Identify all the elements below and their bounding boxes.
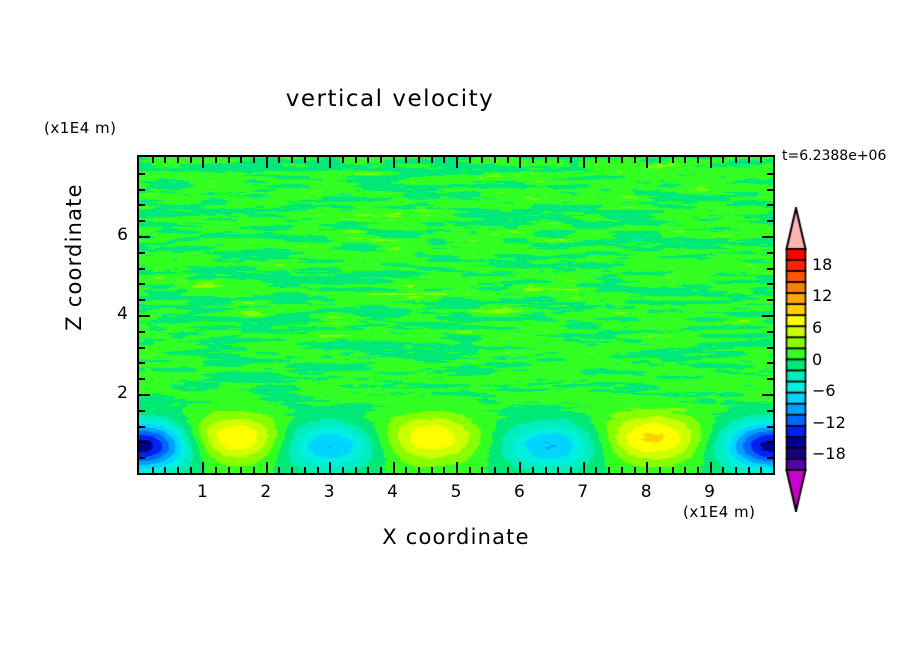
z-axis-tick [767, 299, 773, 301]
z-axis-tick [139, 426, 145, 428]
x-axis-tick [672, 467, 674, 473]
x-axis-tick [570, 467, 572, 473]
x-axis-tick [557, 157, 559, 163]
x-axis-tick [228, 157, 230, 163]
z-axis-tick [139, 394, 150, 396]
z-axis-tick [139, 441, 145, 443]
x-axis-tick [608, 467, 610, 473]
z-axis-tick [139, 283, 145, 285]
x-axis-tick [646, 462, 648, 473]
x-axis-tick [722, 467, 724, 473]
colorbar[interactable] [785, 207, 807, 512]
x-axis-tick [748, 467, 750, 473]
x-axis-tick [760, 157, 762, 163]
page-title: vertical velocity [0, 86, 780, 112]
x-axis-tick [266, 157, 268, 168]
z-axis-tick [139, 410, 145, 412]
x-axis-tick [278, 157, 280, 163]
x-axis-tick [190, 467, 192, 473]
x-axis-tick [431, 467, 433, 473]
colorbar-tick-label: 12 [812, 286, 832, 305]
x-axis-tick [266, 462, 268, 473]
z-axis-tick [139, 331, 145, 333]
z-axis-tick [767, 426, 773, 428]
colorbar-tick-label: 0 [812, 350, 822, 369]
x-axis-tick [481, 157, 483, 163]
colorbar-tick-label: −12 [812, 413, 846, 432]
z-axis-tick [767, 331, 773, 333]
x-axis-tick [735, 467, 737, 473]
x-axis-tick [469, 157, 471, 163]
x-axis-tick [418, 157, 420, 163]
x-axis-tick [595, 157, 597, 163]
z-axis-tick [139, 347, 145, 349]
z-axis-tick [767, 189, 773, 191]
colorbar-tick-label: −6 [812, 381, 836, 400]
x-axis-tick [240, 467, 242, 473]
x-axis-tick [735, 157, 737, 163]
x-axis-tick-label: 4 [378, 482, 408, 502]
time-annotation: t=6.2388e+06 [782, 148, 886, 164]
x-axis-tick [710, 157, 712, 168]
x-axis-tick-label: 5 [441, 482, 471, 502]
x-axis-tick [342, 467, 344, 473]
z-axis-tick-label: 2 [104, 383, 128, 403]
x-axis-tick [608, 157, 610, 163]
y-axis-title: Z coordinate [62, 177, 86, 337]
x-axis-tick [443, 157, 445, 163]
z-axis-tick-label: 4 [104, 304, 128, 324]
x-axis-tick [456, 462, 458, 473]
x-axis-tick [545, 467, 547, 473]
x-axis-tick [355, 467, 357, 473]
x-axis-tick [697, 157, 699, 163]
x-axis-tick [240, 157, 242, 163]
z-axis-tick [139, 252, 145, 254]
colorbar-tick-label: 6 [812, 318, 822, 337]
x-axis-tick [342, 157, 344, 163]
x-axis-tick [621, 157, 623, 163]
z-axis-tick [767, 441, 773, 443]
z-axis-tick [139, 457, 145, 459]
x-axis-tick-label: 3 [314, 482, 344, 502]
x-axis-tick [152, 467, 154, 473]
x-axis-tick [431, 157, 433, 163]
x-axis-tick [215, 157, 217, 163]
x-axis-tick [443, 467, 445, 473]
x-axis-tick [329, 462, 331, 473]
x-axis-tick [532, 157, 534, 163]
x-axis-tick [583, 157, 585, 168]
x-axis-tick [278, 467, 280, 473]
colorbar-tick-label: −18 [812, 444, 846, 463]
z-axis-tick [139, 315, 150, 317]
z-axis-tick [767, 220, 773, 222]
z-axis-tick [139, 204, 145, 206]
x-axis-tick [215, 467, 217, 473]
x-axis-tick [253, 467, 255, 473]
z-axis-tick [767, 252, 773, 254]
z-axis-tick [139, 220, 145, 222]
x-axis-tick [634, 467, 636, 473]
x-axis-tick [329, 157, 331, 168]
z-axis-tick [139, 362, 145, 364]
x-axis-tick [164, 157, 166, 163]
x-axis-tick [760, 467, 762, 473]
x-axis-tick [304, 157, 306, 163]
x-axis-tick [507, 157, 509, 163]
x-axis-tick [456, 157, 458, 168]
x-axis-tick-label: 8 [631, 482, 661, 502]
x-axis-tick-label: 1 [187, 482, 217, 502]
x-axis-tick-label: 2 [251, 482, 281, 502]
x-axis-tick [380, 157, 382, 163]
x-axis-tick [583, 462, 585, 473]
colorbar-tick-label: 18 [812, 255, 832, 274]
x-axis-tick [291, 467, 293, 473]
z-axis-tick [139, 189, 145, 191]
z-axis-tick [762, 394, 773, 396]
z-axis-tick [767, 268, 773, 270]
x-axis-tick [659, 467, 661, 473]
x-axis-tick [190, 157, 192, 163]
x-axis-tick [507, 467, 509, 473]
x-axis-tick [722, 157, 724, 163]
x-axis-tick [570, 157, 572, 163]
x-axis-tick [164, 467, 166, 473]
x-axis-tick [748, 157, 750, 163]
x-axis-tick [367, 467, 369, 473]
z-axis-tick [767, 173, 773, 175]
z-axis-tick-label: 6 [104, 225, 128, 245]
x-axis-tick-label: 6 [504, 482, 534, 502]
x-axis-tick [317, 467, 319, 473]
x-axis-tick [621, 467, 623, 473]
z-axis-tick [139, 268, 145, 270]
x-axis-tick [367, 157, 369, 163]
x-axis-tick [684, 467, 686, 473]
z-axis-tick [139, 236, 150, 238]
contour-plot-area[interactable] [137, 155, 775, 475]
x-axis-tick [317, 157, 319, 163]
x-axis-tick-label: 9 [695, 482, 725, 502]
x-axis-tick [684, 157, 686, 163]
z-axis-tick [139, 173, 145, 175]
velocity-field-canvas [139, 157, 773, 473]
z-axis-tick [139, 299, 145, 301]
z-axis-tick [767, 347, 773, 349]
x-axis-tick [405, 467, 407, 473]
z-axis-tick [767, 378, 773, 380]
x-axis-tick [545, 157, 547, 163]
x-axis-tick [710, 462, 712, 473]
x-axis-tick [355, 157, 357, 163]
x-axis-tick [557, 467, 559, 473]
colorbar-canvas [785, 207, 807, 512]
x-axis-tick [418, 467, 420, 473]
x-axis-multiplier-label: (x1E4 m) [683, 503, 756, 521]
x-axis-tick [202, 157, 204, 168]
z-axis-tick [767, 457, 773, 459]
x-axis-tick [634, 157, 636, 163]
z-axis-tick [767, 283, 773, 285]
z-axis-tick [762, 236, 773, 238]
x-axis-tick [494, 157, 496, 163]
x-axis-tick [152, 157, 154, 163]
x-axis-tick [519, 462, 521, 473]
x-axis-tick [494, 467, 496, 473]
x-axis-tick [697, 467, 699, 473]
x-axis-tick [253, 157, 255, 163]
x-axis-tick [304, 467, 306, 473]
x-axis-tick [672, 157, 674, 163]
z-axis-tick [767, 204, 773, 206]
z-axis-tick [139, 378, 145, 380]
x-axis-tick [469, 467, 471, 473]
x-axis-tick [646, 157, 648, 168]
x-axis-tick [393, 157, 395, 168]
x-axis-tick [177, 467, 179, 473]
x-axis-tick [177, 157, 179, 163]
x-axis-tick [532, 467, 534, 473]
x-axis-tick [519, 157, 521, 168]
z-axis-tick [767, 362, 773, 364]
x-axis-tick [380, 467, 382, 473]
y-axis-multiplier-label: (x1E4 m) [44, 119, 117, 137]
x-axis-title: X coordinate [137, 525, 775, 549]
x-axis-tick [481, 467, 483, 473]
x-axis-tick [393, 462, 395, 473]
x-axis-tick [405, 157, 407, 163]
x-axis-tick [228, 467, 230, 473]
x-axis-tick [202, 462, 204, 473]
x-axis-tick [659, 157, 661, 163]
x-axis-tick-label: 7 [568, 482, 598, 502]
x-axis-tick [291, 157, 293, 163]
z-axis-tick [767, 410, 773, 412]
x-axis-tick [595, 467, 597, 473]
z-axis-tick [762, 315, 773, 317]
